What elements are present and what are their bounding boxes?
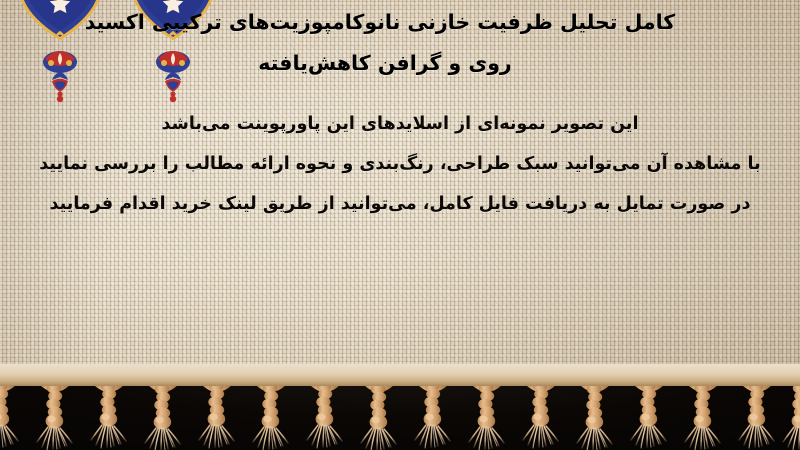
title-line-1: کامل تحلیل ظرفیت خازنی نانوکامپوزیت‌های … bbox=[20, 2, 780, 43]
carpet-fringe-zone bbox=[0, 364, 800, 450]
title-line-2: روی و گرافن کاهش‌یافته bbox=[20, 43, 780, 84]
body-line-2: با مشاهده آن می‌توانید سبک طراحی، رنگ‌بن… bbox=[0, 144, 800, 184]
body-line-3: در صورت تمایل به دریافت فایل کامل، می‌تو… bbox=[0, 184, 800, 224]
fringe-strand-row bbox=[0, 381, 800, 450]
slide-body: این تصویر نمونه‌ای از اسلایدهای این پاور… bbox=[0, 104, 800, 224]
slide-text-layer: کامل تحلیل ظرفیت خازنی نانوکامپوزیت‌های … bbox=[0, 0, 800, 372]
slide-canvas: کامل تحلیل ظرفیت خازنی نانوکامپوزیت‌های … bbox=[0, 0, 800, 450]
carpet-bottom-edge bbox=[0, 364, 800, 386]
slide-title: کامل تحلیل ظرفیت خازنی نانوکامپوزیت‌های … bbox=[0, 2, 800, 84]
body-line-1: این تصویر نمونه‌ای از اسلایدهای این پاور… bbox=[0, 104, 800, 144]
